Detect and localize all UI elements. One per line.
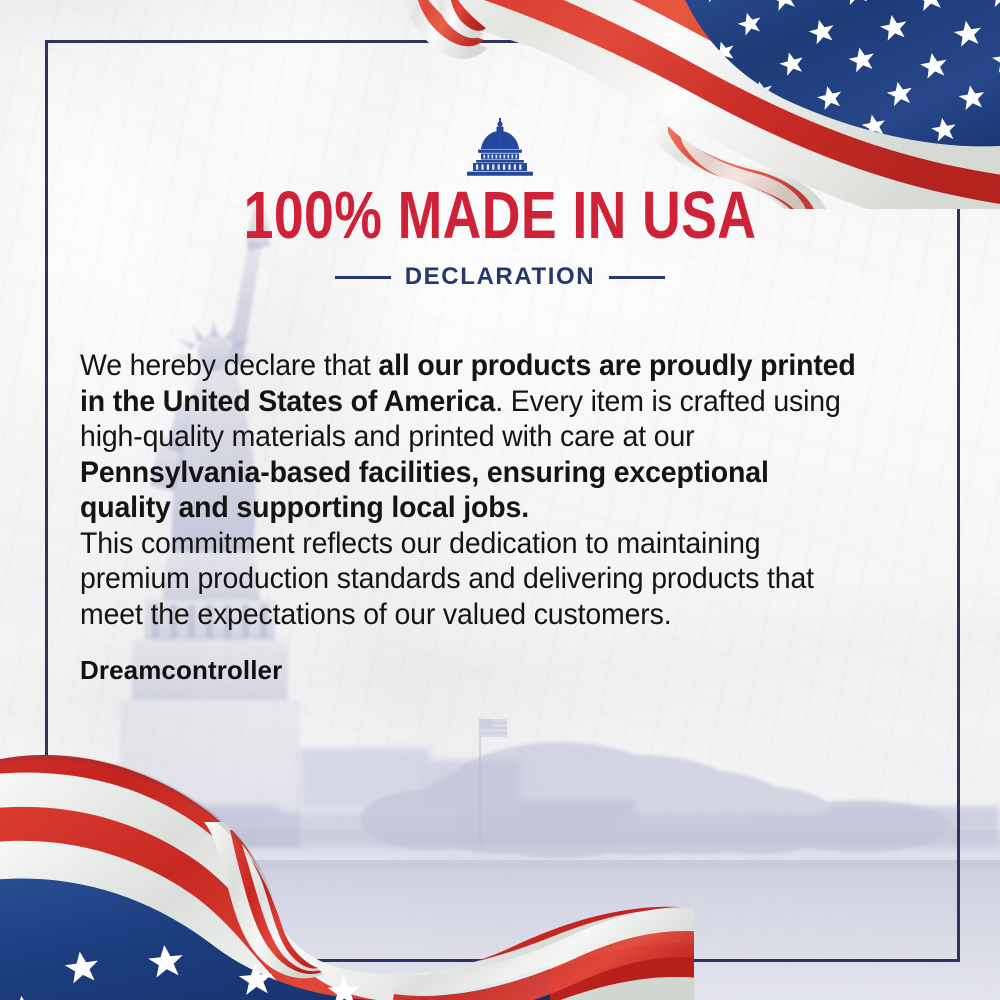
american-flag-bottom-left xyxy=(0,736,694,1000)
paragraph-two: This commitment reflects our dedication … xyxy=(80,526,866,633)
subtitle-row: DECLARATION xyxy=(0,263,1000,291)
para1-bold2: Pennsylvania-based facilities, ensuring … xyxy=(80,456,769,525)
rule-right xyxy=(609,276,665,279)
subtitle: DECLARATION xyxy=(405,263,595,291)
declaration-poster: 100% MADE IN USA DECLARATION We hereby d… xyxy=(0,0,1000,1000)
declaration-body: We hereby declare that all our products … xyxy=(80,348,866,632)
signature: Dreamcontroller xyxy=(80,655,282,686)
rule-left xyxy=(335,276,391,279)
paragraph-one: We hereby declare that all our products … xyxy=(80,348,866,526)
american-flag-top-right xyxy=(384,0,1000,209)
para1-segment1: We hereby declare that xyxy=(80,349,378,382)
